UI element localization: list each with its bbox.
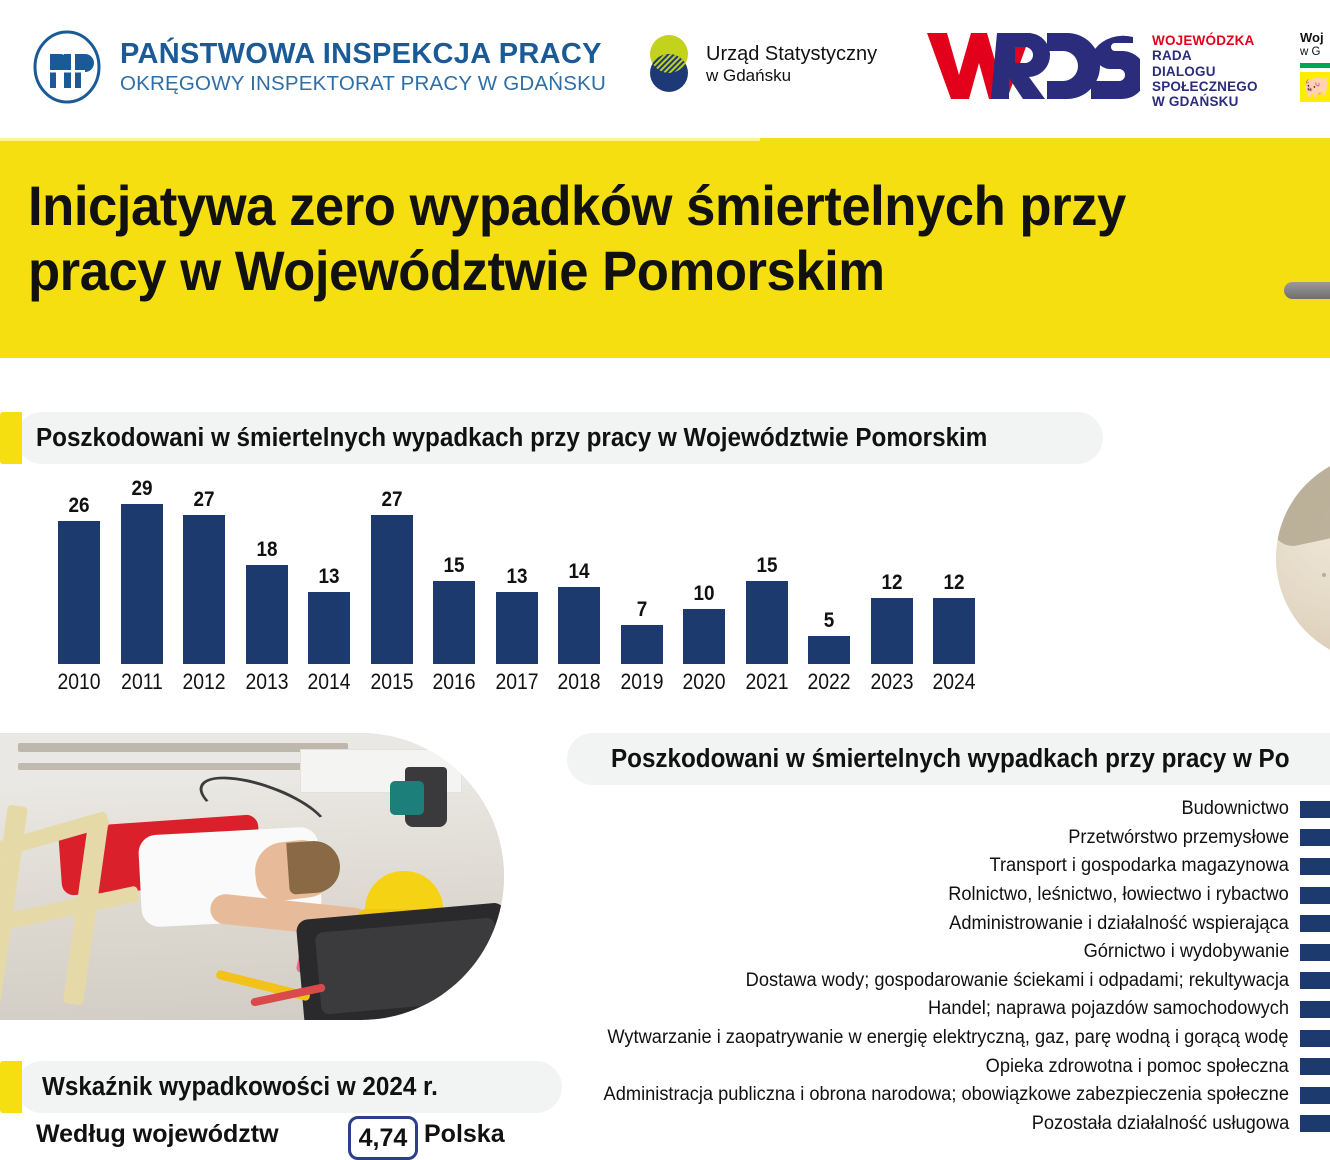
year-bar — [871, 598, 913, 664]
year-bar — [183, 515, 225, 664]
sector-label: Administracja publiczna i obrona narodow… — [604, 1084, 1289, 1106]
year-bar-group: 122023 — [863, 470, 921, 695]
sector-row: Transport i gospodarka magazynowa — [600, 852, 1330, 881]
year-bar — [433, 581, 475, 664]
sector-bar — [1300, 944, 1330, 961]
sector-label: Pozostała działalność usługowa — [1031, 1113, 1289, 1135]
urzad-statystyczny-circles-icon — [643, 33, 695, 95]
sector-bar — [1300, 1087, 1330, 1104]
sector-row: Pozostała działalność usługowa — [600, 1110, 1330, 1139]
year-bar-value-label: 27 — [178, 488, 230, 512]
injured-worker-photo — [0, 733, 504, 1020]
year-bar-group: 272012 — [175, 470, 233, 695]
wrds-logo: WOJEWÓDZKA RADA DIALOGU SPOŁECZNEGO W GD… — [925, 27, 1258, 109]
year-bar — [683, 609, 725, 664]
year-axis-label: 2021 — [738, 669, 794, 695]
year-bar — [621, 625, 663, 664]
sector-bar — [1300, 915, 1330, 932]
pip-logo-text: PAŃSTWOWA INSPEKCJA PRACY OKRĘGOWY INSPE… — [120, 39, 606, 96]
fatal-accidents-section-header: Poszkodowani w śmiertelnych wypadkach pr… — [16, 412, 1103, 464]
year-axis-label: 2011 — [113, 669, 169, 695]
accident-rate-panel: Według województw 4,74 Polska — [0, 1120, 560, 1160]
pip-emblem-icon — [30, 30, 104, 104]
urzad-statystyczny-line1: Urząd Statystyczny — [706, 43, 877, 66]
year-bar — [308, 592, 350, 664]
year-bar-group: 52022 — [800, 470, 858, 695]
sector-row: Budownictwo — [600, 795, 1330, 824]
year-bar-value-label: 12 — [865, 571, 917, 595]
sector-label: Przetwórstwo przemysłowe — [1068, 827, 1289, 849]
wrds-line-3: DIALOGU — [1152, 64, 1258, 79]
yellow-accent-tab — [0, 412, 22, 464]
ladder-shape — [0, 805, 168, 1005]
sector-label: Dostawa wody; gospodarowanie ściekami i … — [746, 970, 1289, 992]
sector-bar — [1300, 1058, 1330, 1075]
year-bar-value-label: 29 — [115, 477, 167, 501]
sectors-header-label: Poszkodowani w śmiertelnych wypadkach pr… — [611, 745, 1290, 774]
pomorskie-line1: Woj — [1300, 30, 1330, 45]
sector-bar — [1300, 1030, 1330, 1047]
sector-row: Rolnictwo, leśnictwo, łowiectwo i rybact… — [600, 881, 1330, 910]
sector-bar — [1300, 801, 1330, 818]
pip-title: PAŃSTWOWA INSPEKCJA PRACY — [120, 39, 606, 69]
pomorskie-logo: Woj w G 🐖 — [1300, 30, 1330, 102]
title-banner: Inicjatywa zero wypadków śmiertelnych pr… — [0, 138, 1330, 358]
accident-rate-header-label: Wskaźnik wypadkowości w 2024 r. — [42, 1073, 438, 1102]
pomorskie-line2: w G — [1300, 46, 1330, 58]
year-bar-group: 152021 — [738, 470, 796, 695]
year-axis-label: 2012 — [176, 669, 232, 695]
sector-label: Budownictwo — [1182, 798, 1289, 820]
sector-row: Administrowanie i działalność wspierając… — [600, 909, 1330, 938]
sector-row: Administracja publiczna i obrona narodow… — [600, 1081, 1330, 1110]
year-bar-value-label: 13 — [490, 565, 542, 589]
sector-label: Handel; naprawa pojazdów samochodowych — [928, 998, 1289, 1020]
year-bar — [246, 565, 288, 664]
fatal-accidents-bar-chart: 2620102920112720121820131320142720151520… — [0, 470, 980, 695]
year-bar-value-label: 27 — [365, 488, 417, 512]
year-axis-label: 2015 — [363, 669, 419, 695]
sector-bar — [1300, 972, 1330, 989]
sector-label: Opieka zdrowotna i pomoc społeczna — [986, 1056, 1289, 1078]
rate-by-voivodeship-label: Według województw — [36, 1120, 279, 1149]
year-bar-group: 182013 — [238, 470, 296, 695]
year-bar — [496, 592, 538, 664]
year-axis-label: 2018 — [551, 669, 607, 695]
year-bar-group: 102020 — [675, 470, 733, 695]
accident-rate-section-header: Wskaźnik wypadkowości w 2024 r. — [16, 1061, 562, 1113]
year-bar-group: 132017 — [488, 470, 546, 695]
pomorskie-green-rule — [1300, 63, 1330, 68]
year-bar-group: 152016 — [425, 470, 483, 695]
year-axis-label: 2017 — [488, 669, 544, 695]
wrds-line-1: WOJEWÓDZKA — [1152, 33, 1258, 48]
year-axis-label: 2013 — [238, 669, 294, 695]
sector-bar — [1300, 1115, 1330, 1132]
sector-label: Górnictwo i wydobywanie — [1083, 941, 1289, 963]
pip-subtitle: OKRĘGOWY INSPEKTORAT PRACY W GDAŃSKU — [120, 72, 606, 96]
sector-row: Opieka zdrowotna i pomoc społeczna — [600, 1052, 1330, 1081]
year-bar-value-label: 12 — [928, 571, 980, 595]
rate-value-box: 4,74 — [348, 1116, 418, 1160]
year-axis-label: 2010 — [51, 669, 107, 695]
year-bar-group: 292011 — [113, 470, 171, 695]
sector-bar — [1300, 829, 1330, 846]
year-bar — [121, 504, 163, 664]
sector-bar — [1300, 858, 1330, 875]
year-bar — [933, 598, 975, 664]
fatal-accidents-header-label: Poszkodowani w śmiertelnych wypadkach pr… — [36, 424, 987, 453]
year-bar-value-label: 14 — [553, 560, 605, 584]
year-bar-value-label: 10 — [678, 582, 730, 606]
wrds-line-2: RADA — [1152, 48, 1258, 63]
sectors-section-header: Poszkodowani w śmiertelnych wypadkach pr… — [567, 733, 1330, 785]
year-bar-group: 262010 — [50, 470, 108, 695]
year-bar — [808, 636, 850, 664]
year-bar — [746, 581, 788, 664]
year-axis-label: 2014 — [301, 669, 357, 695]
yellow-accent-tab-rate — [0, 1061, 22, 1113]
year-bar — [58, 521, 100, 664]
year-bar-group: 132014 — [300, 470, 358, 695]
sector-label: Rolnictwo, leśnictwo, łowiectwo i rybact… — [948, 884, 1289, 906]
sector-row: Górnictwo i wydobywanie — [600, 938, 1330, 967]
urzad-statystyczny-line2: w Gdańsku — [706, 66, 877, 86]
pip-logo: PAŃSTWOWA INSPEKCJA PRACY OKRĘGOWY INSPE… — [30, 30, 606, 104]
year-bar-group: 142018 — [550, 470, 608, 695]
year-bar — [371, 515, 413, 664]
year-bar-value-label: 13 — [303, 565, 355, 589]
year-axis-label: 2020 — [676, 669, 732, 695]
wrds-line-5: W GDAŃSKU — [1152, 94, 1258, 109]
year-bar-value-label: 18 — [240, 538, 292, 562]
year-bar-value-label: 15 — [428, 554, 480, 578]
year-axis-label: 2024 — [926, 669, 982, 695]
year-bar — [558, 587, 600, 664]
year-axis-label: 2019 — [613, 669, 669, 695]
page-title: Inicjatywa zero wypadków śmiertelnych pr… — [28, 174, 1250, 304]
construction-detail-photo — [1276, 453, 1330, 663]
wrds-wordmark-icon — [925, 27, 1140, 102]
sector-bar — [1300, 1001, 1330, 1018]
sector-bar — [1300, 887, 1330, 904]
wrds-full-name: WOJEWÓDZKA RADA DIALOGU SPOŁECZNEGO W GD… — [1152, 33, 1258, 109]
year-bar-group: 272015 — [363, 470, 421, 695]
sector-row: Dostawa wody; gospodarowanie ściekami i … — [600, 967, 1330, 996]
year-axis-label: 2016 — [426, 669, 482, 695]
banner-seam — [0, 138, 760, 141]
year-bar-value-label: 15 — [740, 554, 792, 578]
urzad-statystyczny-text: Urząd Statystyczny w Gdańsku — [706, 43, 877, 86]
rate-country-label: Polska — [424, 1120, 505, 1149]
sector-row: Wytwarzanie i zaopatrywanie w energię el… — [600, 1024, 1330, 1053]
logo-header-bar: PAŃSTWOWA INSPEKCJA PRACY OKRĘGOWY INSPE… — [0, 0, 1330, 131]
sector-label: Wytwarzanie i zaopatrywanie w energię el… — [608, 1027, 1289, 1049]
year-axis-label: 2022 — [801, 669, 857, 695]
year-bar-value-label: 26 — [53, 494, 105, 518]
year-bar-value-label: 7 — [615, 598, 667, 622]
sector-row: Handel; naprawa pojazdów samochodowych — [600, 995, 1330, 1024]
sectors-bar-list: BudownictwoPrzetwórstwo przemysłoweTrans… — [600, 795, 1330, 1138]
year-axis-label: 2023 — [863, 669, 919, 695]
sector-label: Administrowanie i działalność wspierając… — [949, 913, 1289, 935]
year-bar-value-label: 5 — [803, 609, 855, 633]
year-bar-group: 122024 — [925, 470, 983, 695]
urzad-statystyczny-logo: Urząd Statystyczny w Gdańsku — [643, 33, 877, 95]
year-bar-group: 72019 — [613, 470, 671, 695]
sector-row: Przetwórstwo przemysłowe — [600, 824, 1330, 853]
sector-label: Transport i gospodarka magazynowa — [990, 855, 1289, 877]
tool-handle-decoration-icon — [1284, 282, 1330, 299]
pomorskie-griffin-crest-icon: 🐖 — [1300, 72, 1330, 102]
wrds-line-4: SPOŁECZNEGO — [1152, 79, 1258, 94]
